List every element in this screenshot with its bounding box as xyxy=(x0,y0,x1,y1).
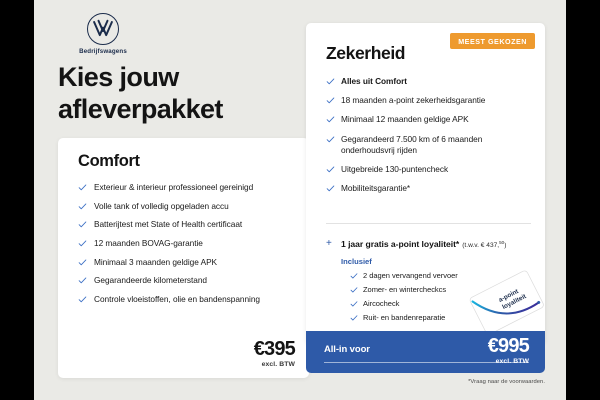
volkswagen-logo-icon xyxy=(87,13,119,45)
list-item: Gegarandeerd 7.500 km of 6 maanden onder… xyxy=(326,134,533,156)
list-item-label: Aircocheck xyxy=(363,299,399,308)
inclusief-label: Inclusief xyxy=(341,257,535,266)
comfort-feature-list: Exterieur & interieur professioneel gere… xyxy=(78,182,295,313)
list-item-label: Mobiliteitsgarantie* xyxy=(341,183,410,193)
letterbox-bar-right xyxy=(566,0,600,400)
list-item-label: Gegarandeerd 7.500 km of 6 maanden onder… xyxy=(341,134,482,155)
allin-price-block: €995 excl. BTW xyxy=(488,336,529,365)
bonus-value: (t.w.v. € 437,50) xyxy=(462,242,506,249)
list-item-label: Minimaal 12 maanden geldige APK xyxy=(341,114,469,124)
list-item: Volle tank of volledig opgeladen accu xyxy=(78,201,295,212)
list-item: Batterijtest met State of Health certifi… xyxy=(78,219,295,230)
bonus-title-row: + 1 jaar gratis a-point loyaliteit*(t.w.… xyxy=(326,239,535,249)
list-item: Mobiliteitsgarantie* xyxy=(326,183,533,194)
check-icon xyxy=(326,165,335,174)
screenshot-stage: Bedrijfswagens Kies jouw afleverpakket C… xyxy=(0,0,600,400)
page-title-line-2: afleverpakket xyxy=(58,94,318,126)
list-item: Minimaal 12 maanden geldige APK xyxy=(326,114,533,125)
comfort-price: €395 xyxy=(254,339,295,359)
list-item: Gegarandeerde kilometerstand xyxy=(78,275,295,286)
status-badge: MEEST GEKOZEN xyxy=(450,33,535,49)
bonus-title: 1 jaar gratis a-point loyaliteit* xyxy=(341,239,459,249)
page-title-line-1: Kies jouw xyxy=(58,62,318,94)
check-icon xyxy=(78,239,87,248)
comfort-price-note: excl. BTW xyxy=(254,361,295,368)
list-item: Minimaal 3 maanden geldige APK xyxy=(78,257,295,268)
allin-price-note: excl. BTW xyxy=(488,358,529,365)
list-item-label: Minimaal 3 maanden geldige APK xyxy=(94,257,217,267)
list-item-label: Volle tank of volledig opgeladen accu xyxy=(94,201,229,211)
list-item: Alles uit Comfort xyxy=(326,76,533,87)
divider xyxy=(326,223,531,224)
list-item-label: Uitgebreide 130-puntencheck xyxy=(341,164,448,174)
list-item-label: Exterieur & interieur professioneel gere… xyxy=(94,182,253,192)
list-item: 18 maanden a-point zekerheidsgarantie xyxy=(326,95,533,106)
check-icon xyxy=(78,276,87,285)
check-icon xyxy=(78,258,87,267)
package-card-comfort[interactable]: Comfort Exterieur & interieur profession… xyxy=(58,138,309,378)
check-icon xyxy=(78,220,87,229)
comfort-price-block: €395 excl. BTW xyxy=(254,339,295,368)
check-icon xyxy=(326,135,335,144)
allin-price: €995 xyxy=(488,336,529,356)
check-icon xyxy=(350,300,358,308)
plus-icon: + xyxy=(326,239,332,249)
check-icon xyxy=(326,184,335,193)
list-item-label: Ruit- en bandenreparatie xyxy=(363,313,445,322)
list-item-label: Controle vloeistoffen, olie en bandenspa… xyxy=(94,294,260,304)
list-item: Controle vloeistoffen, olie en bandenspa… xyxy=(78,294,295,305)
list-item-label: Gegarandeerde kilometerstand xyxy=(94,275,207,285)
list-item-label: 18 maanden a-point zekerheidsgarantie xyxy=(341,95,485,105)
zekerheid-feature-list: Alles uit Comfort 18 maanden a-point zek… xyxy=(326,76,533,202)
comfort-card-title: Comfort xyxy=(78,152,140,171)
footnote: *Vraag naar de voorwaarden. xyxy=(468,379,545,385)
check-icon xyxy=(350,272,358,280)
check-icon xyxy=(326,77,335,86)
list-item-label: Alles uit Comfort xyxy=(341,76,407,86)
loyalty-card-image: a-point loyaliteit xyxy=(463,266,545,340)
list-item-label: 2 dagen vervangend vervoer xyxy=(363,271,458,280)
list-item: Uitgebreide 130-puntencheck xyxy=(326,164,533,175)
check-icon xyxy=(78,295,87,304)
page-title: Kies jouw afleverpakket xyxy=(58,62,318,126)
list-item-label: Zomer- en wintercheckcs xyxy=(363,285,446,294)
check-icon xyxy=(350,314,358,322)
check-icon xyxy=(78,202,87,211)
zekerheid-card-title: Zekerheid xyxy=(326,43,405,64)
letterbox-bar-left xyxy=(0,0,34,400)
list-item: Exterieur & interieur professioneel gere… xyxy=(78,182,295,193)
package-card-zekerheid[interactable]: MEEST GEKOZEN Zekerheid Alles uit Comfor… xyxy=(306,23,545,344)
check-icon xyxy=(326,115,335,124)
check-icon xyxy=(78,183,87,192)
allin-label: All-in voor xyxy=(324,344,370,355)
brand-subtitle: Bedrijfswagens xyxy=(61,48,145,55)
bonus-value-prefix: (t.w.v. € 437, xyxy=(462,242,499,249)
brand-block: Bedrijfswagens xyxy=(61,13,145,55)
page-canvas: Bedrijfswagens Kies jouw afleverpakket C… xyxy=(34,0,566,400)
check-icon xyxy=(326,96,335,105)
bonus-value-suffix: ) xyxy=(504,242,506,249)
list-item-label: 12 maanden BOVAG-garantie xyxy=(94,238,203,248)
list-item-label: Batterijtest met State of Health certifi… xyxy=(94,219,242,229)
list-item: 12 maanden BOVAG-garantie xyxy=(78,238,295,249)
check-icon xyxy=(350,286,358,294)
allin-price-bar[interactable]: All-in voor €995 excl. BTW xyxy=(306,331,545,373)
